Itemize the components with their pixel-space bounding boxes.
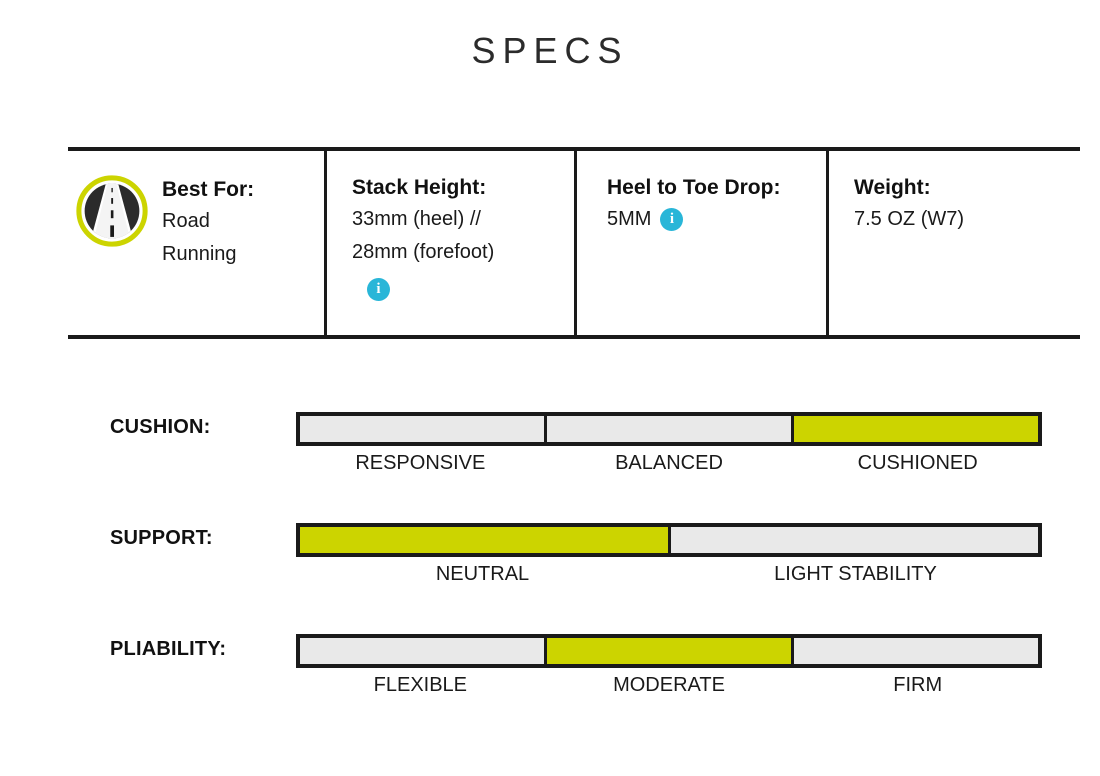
spec-cell-stack-height: Stack Height: 33mm (heel) // 28mm (foref… (324, 151, 574, 335)
rating-ticks-cushion: RESPONSIVE BALANCED CUSHIONED (296, 452, 1042, 475)
stack-height-label: Stack Height: (352, 173, 574, 203)
rating-segment-firm[interactable] (791, 638, 1038, 664)
rating-tick-flexible: FLEXIBLE (296, 674, 545, 697)
stack-height-value-line2: 28mm (forefoot) (352, 236, 574, 269)
spec-cell-heel-to-toe-drop: Heel to Toe Drop: 5MM i (574, 151, 826, 335)
rating-tick-cushioned: CUSHIONED (793, 452, 1042, 475)
spec-cell-best-for: Best For: Road Running (68, 151, 324, 335)
rating-segment-moderate[interactable] (544, 638, 791, 664)
rating-segment-light-stability[interactable] (668, 527, 1039, 553)
heel-to-toe-drop-info-icon[interactable]: i (660, 208, 683, 231)
rating-tick-moderate: MODERATE (545, 674, 794, 697)
rating-bar-cushion[interactable] (296, 412, 1042, 446)
rating-tick-balanced: BALANCED (545, 452, 794, 475)
stack-height-value-line1: 33mm (heel) // (352, 203, 574, 236)
best-for-value-line1: Road (162, 205, 254, 238)
rating-label-cushion: CUSHION: (110, 416, 211, 439)
heel-to-toe-drop-label: Heel to Toe Drop: (607, 173, 826, 203)
rating-bar-pliability[interactable] (296, 634, 1042, 668)
heel-to-toe-drop-value-row: 5MM i (607, 203, 826, 236)
rating-segment-responsive[interactable] (300, 416, 544, 442)
best-for-value-line2: Running (162, 238, 254, 271)
rating-bar-support[interactable] (296, 523, 1042, 557)
ratings-section: CUSHION: RESPONSIVE BALANCED CUSHIONED S… (0, 398, 1100, 731)
stack-height-info-icon[interactable]: i (367, 278, 390, 301)
rating-segment-cushioned[interactable] (791, 416, 1038, 442)
rating-segment-neutral[interactable] (300, 527, 668, 553)
best-for-label: Best For: (162, 175, 254, 205)
heel-to-toe-drop-value: 5MM (607, 203, 651, 236)
rating-ticks-pliability: FLEXIBLE MODERATE FIRM (296, 674, 1042, 697)
rating-segment-flexible[interactable] (300, 638, 544, 664)
rating-label-support: SUPPORT: (110, 527, 213, 550)
rating-label-pliability: PLIABILITY: (110, 638, 226, 661)
rating-tick-responsive: RESPONSIVE (296, 452, 545, 475)
rating-tick-light-stability: LIGHT STABILITY (669, 563, 1042, 586)
spec-table: Best For: Road Running Stack Height: 33m… (68, 147, 1080, 339)
spec-cell-weight: Weight: 7.5 OZ (W7) (826, 151, 1080, 335)
rating-tick-neutral: NEUTRAL (296, 563, 669, 586)
page-title: SPECS (0, 30, 1100, 72)
rating-ticks-support: NEUTRAL LIGHT STABILITY (296, 563, 1042, 586)
rating-tick-firm: FIRM (793, 674, 1042, 697)
rating-row-pliability: PLIABILITY: FLEXIBLE MODERATE FIRM (0, 620, 1100, 731)
rating-segment-balanced[interactable] (544, 416, 791, 442)
rating-row-cushion: CUSHION: RESPONSIVE BALANCED CUSHIONED (0, 398, 1100, 509)
road-circle-icon (76, 175, 148, 247)
weight-value: 7.5 OZ (W7) (854, 203, 1080, 236)
best-for-text: Best For: Road Running (162, 173, 254, 271)
weight-label: Weight: (854, 173, 1080, 203)
rating-row-support: SUPPORT: NEUTRAL LIGHT STABILITY (0, 509, 1100, 620)
